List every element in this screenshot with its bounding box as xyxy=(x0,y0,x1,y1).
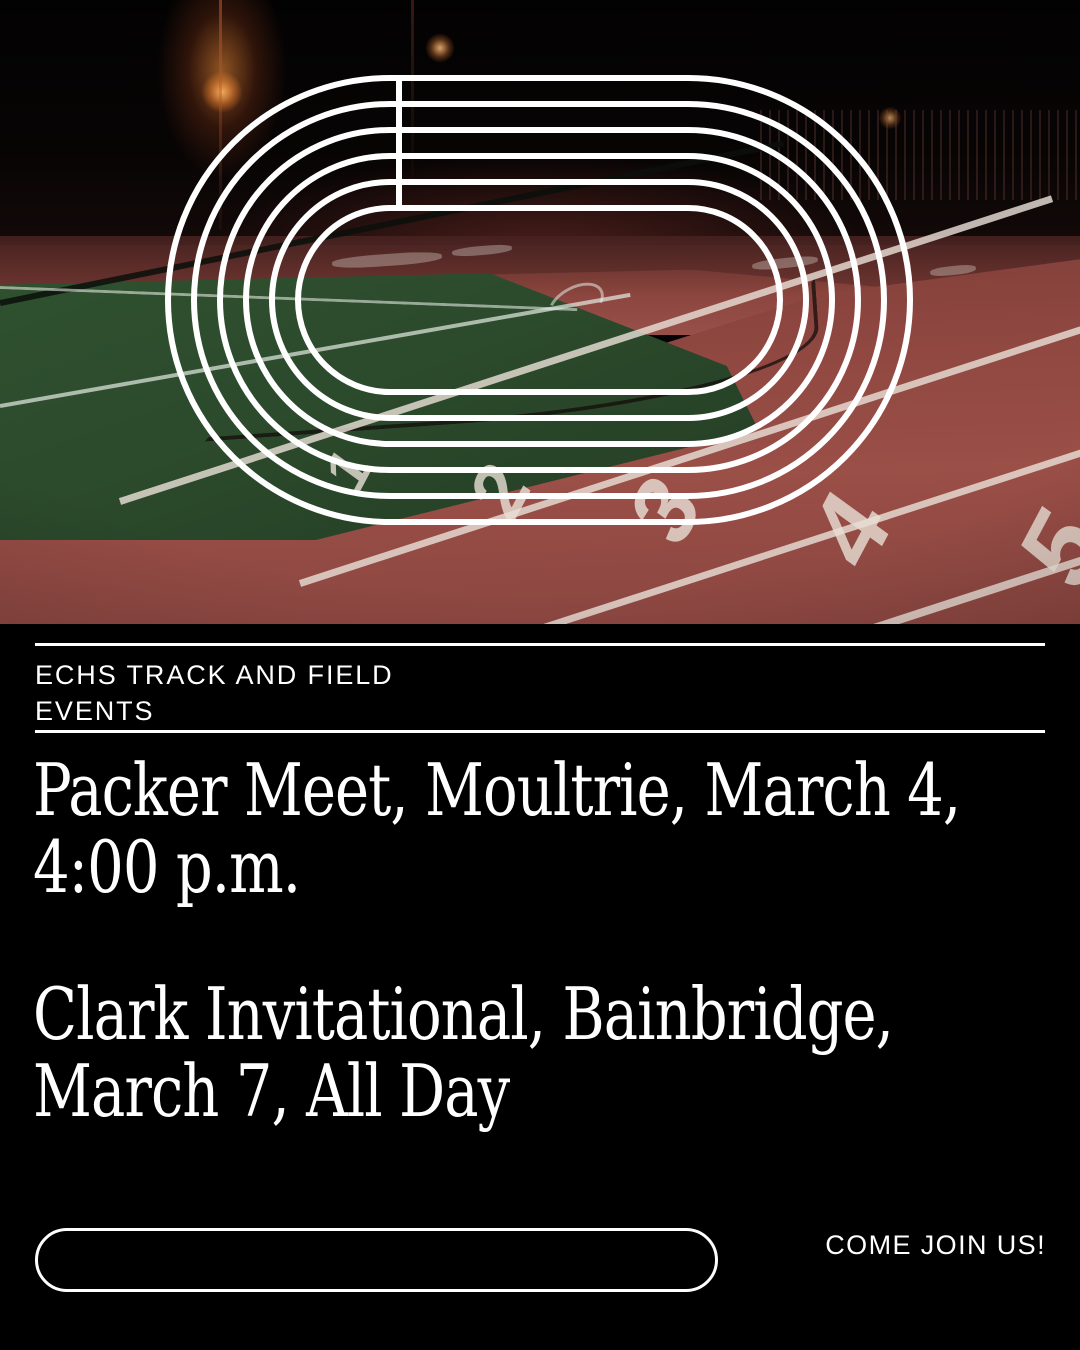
light-pole-left xyxy=(219,0,222,230)
hero-photo: 1 2 3 4 5 xyxy=(0,0,1080,624)
fence-detail xyxy=(760,110,1080,200)
event-item: Packer Meet, Moultrie, March 4, 4:00 p.m… xyxy=(33,752,1069,906)
divider-bottom xyxy=(35,730,1045,733)
content-panel: ECHS TRACK AND FIELD EVENTS Packer Meet,… xyxy=(0,624,1080,1350)
poster-root: 1 2 3 4 5 ECHS TRACK AND FIELD EVENTS Pa… xyxy=(0,0,1080,1350)
divider-top xyxy=(35,643,1045,646)
light-pole-center xyxy=(411,0,414,180)
event-item: Clark Invitational, Bainbridge, March 7,… xyxy=(33,976,1069,1130)
cta-pill-button[interactable] xyxy=(35,1228,718,1292)
page-title: ECHS TRACK AND FIELD EVENTS xyxy=(35,658,735,729)
events-list: Packer Meet, Moultrie, March 4, 4:00 p.m… xyxy=(33,752,1053,1130)
come-join-us-label: COME JOIN US! xyxy=(825,1232,1046,1259)
